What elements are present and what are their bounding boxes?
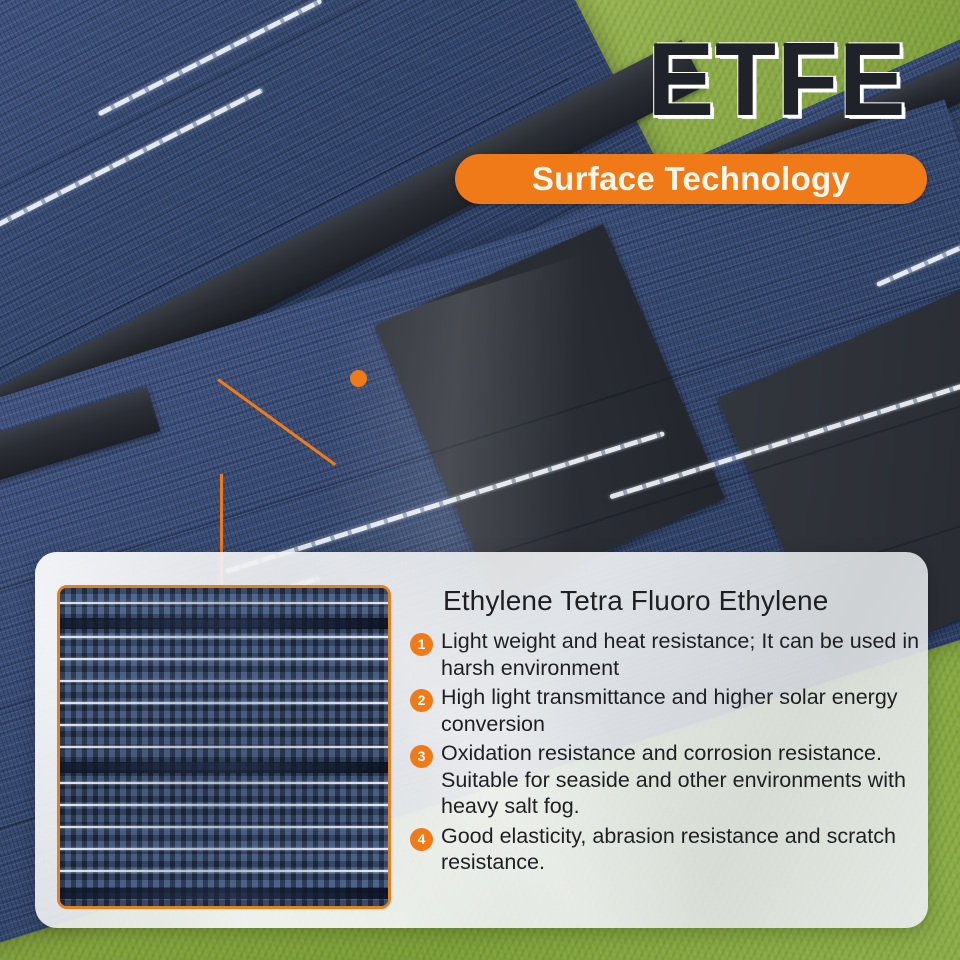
macro-busbar-line (57, 826, 391, 828)
feature-number-badge: 1 (410, 633, 433, 656)
macro-busbar-line (57, 680, 391, 682)
macro-inset-image (57, 585, 391, 909)
macro-busbar-line (57, 702, 391, 704)
macro-busbar-line (57, 804, 391, 806)
feature-text: High light transmittance and higher sola… (441, 684, 920, 737)
info-card-title: Ethylene Tetra Fluoro Ethylene (443, 585, 828, 617)
feature-item: 4 Good elasticity, abrasion resistance a… (410, 823, 920, 876)
feature-item: 2 High light transmittance and higher so… (410, 684, 920, 737)
feature-number-badge: 2 (410, 689, 433, 712)
feature-number-badge: 4 (410, 828, 433, 851)
page-title: ETFE (619, 28, 936, 134)
feature-list: 1 Light weight and heat resistance; It c… (410, 628, 920, 879)
macro-busbar-line (57, 636, 391, 638)
feature-text: Light weight and heat resistance; It can… (441, 628, 920, 681)
subtitle-pill-label: Surface Technology (532, 160, 850, 198)
macro-dark-band (57, 888, 391, 899)
macro-dark-band (57, 762, 391, 773)
macro-busbar-line (57, 782, 391, 784)
macro-busbar-line (57, 870, 391, 872)
subtitle-pill: Surface Technology (455, 154, 927, 204)
feature-item: 1 Light weight and heat resistance; It c… (410, 628, 920, 681)
macro-busbar-line (57, 746, 391, 748)
feature-text: Good elasticity, abrasion resistance and… (441, 823, 920, 876)
macro-busbar-line (57, 602, 391, 604)
feature-number-badge: 3 (410, 745, 433, 768)
feature-text: Oxidation resistance and corrosion resis… (441, 740, 920, 820)
macro-busbar-line (57, 848, 391, 850)
product-feature-image: ETFE Surface Technology (0, 0, 960, 960)
feature-item: 3 Oxidation resistance and corrosion res… (410, 740, 920, 820)
macro-busbar-line (57, 658, 391, 660)
macro-dark-band (57, 618, 391, 629)
macro-busbar-line (57, 724, 391, 726)
